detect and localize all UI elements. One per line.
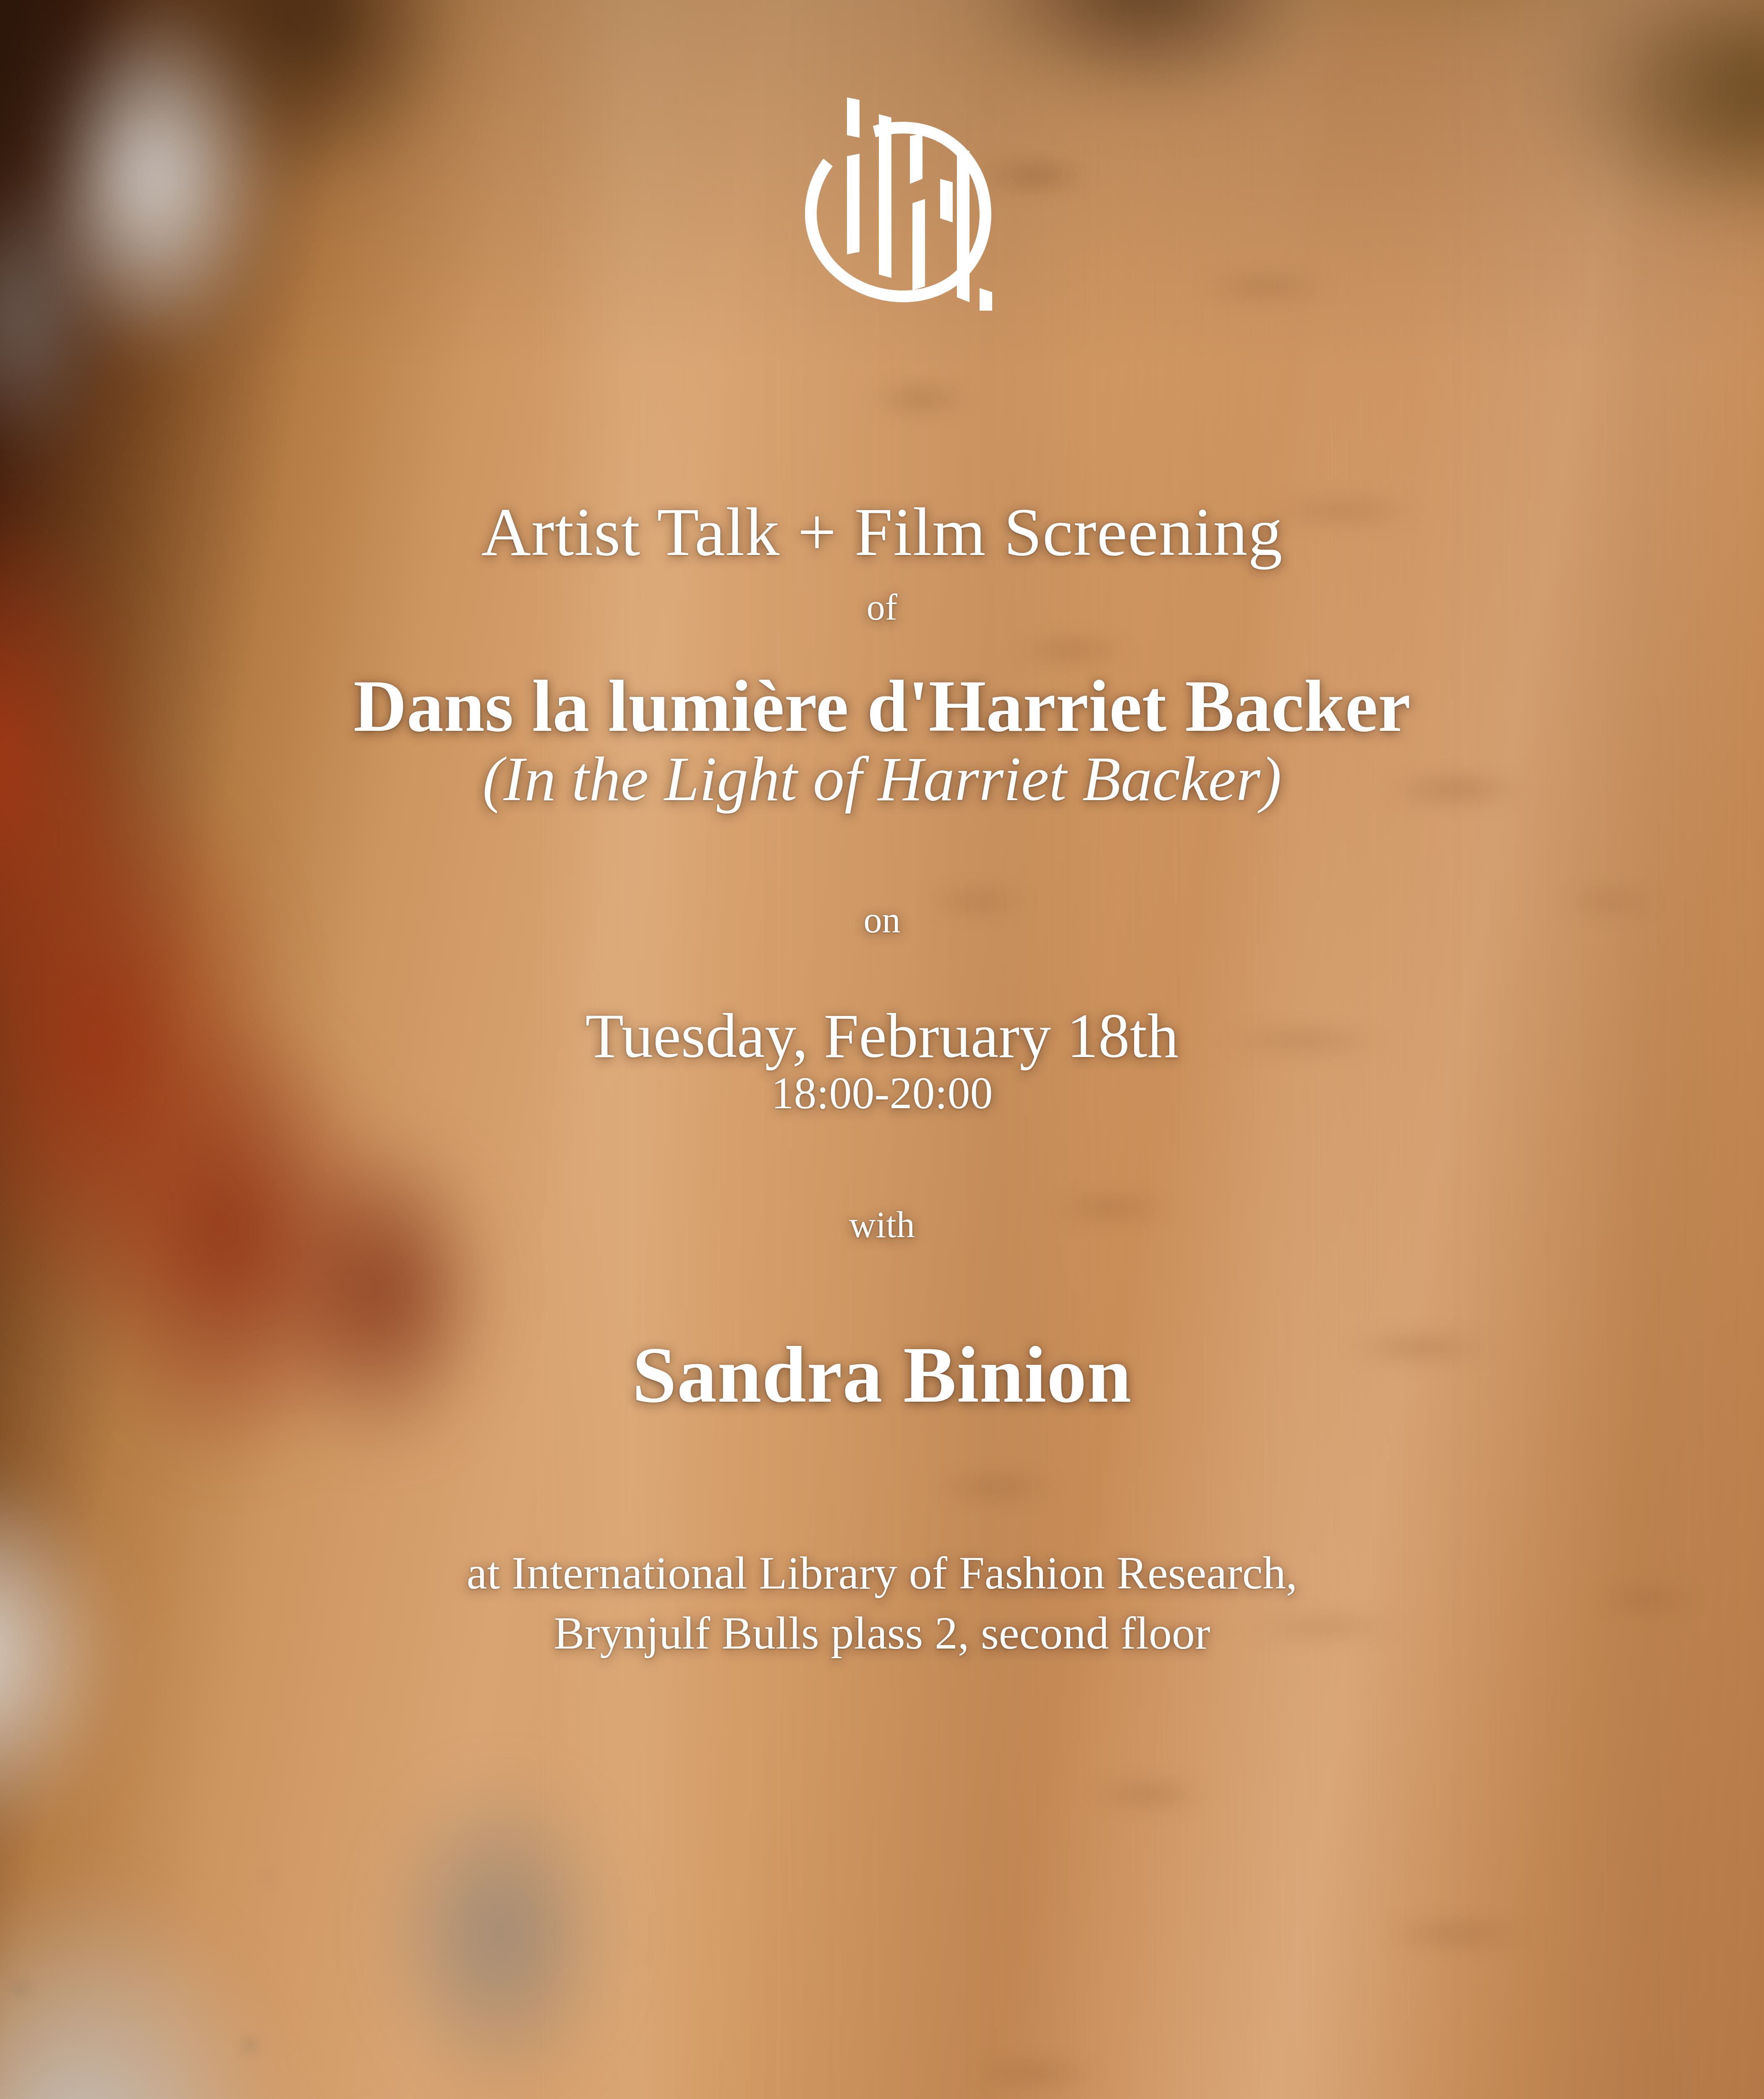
- connector-with: with: [109, 1205, 1655, 1244]
- event-date: Tuesday, February 18th: [109, 1002, 1655, 1069]
- speaker-name: Sandra Binion: [109, 1333, 1655, 1417]
- connector-on: on: [109, 900, 1655, 940]
- spacer: [109, 627, 1655, 667]
- film-title-english: (In the Light of Harriet Backer): [109, 746, 1655, 812]
- spacer: [109, 940, 1655, 1002]
- poster-content: Artist Talk + Film Screening of Dans la …: [0, 0, 1764, 2099]
- venue-line-1: at International Library of Fashion Rese…: [109, 1543, 1655, 1603]
- spacer: [109, 812, 1655, 900]
- poster-headline: Artist Talk + Film Screening: [109, 495, 1655, 568]
- spacer: [109, 1117, 1655, 1205]
- event-poster: Artist Talk + Film Screening of Dans la …: [0, 0, 1764, 2099]
- ilfr-logo: [0, 84, 1764, 311]
- spacer: [109, 1417, 1655, 1543]
- event-time: 18:00-20:00: [109, 1069, 1655, 1117]
- spacer: [109, 1245, 1655, 1333]
- poster-text-stack: Artist Talk + Film Screening of Dans la …: [0, 495, 1764, 1663]
- connector-of: of: [109, 588, 1655, 627]
- venue-line-2: Brynjulf Bulls plass 2, second floor: [109, 1603, 1655, 1663]
- film-title-french: Dans la lumière d'Harriet Backer: [109, 667, 1655, 746]
- spacer: [109, 568, 1655, 588]
